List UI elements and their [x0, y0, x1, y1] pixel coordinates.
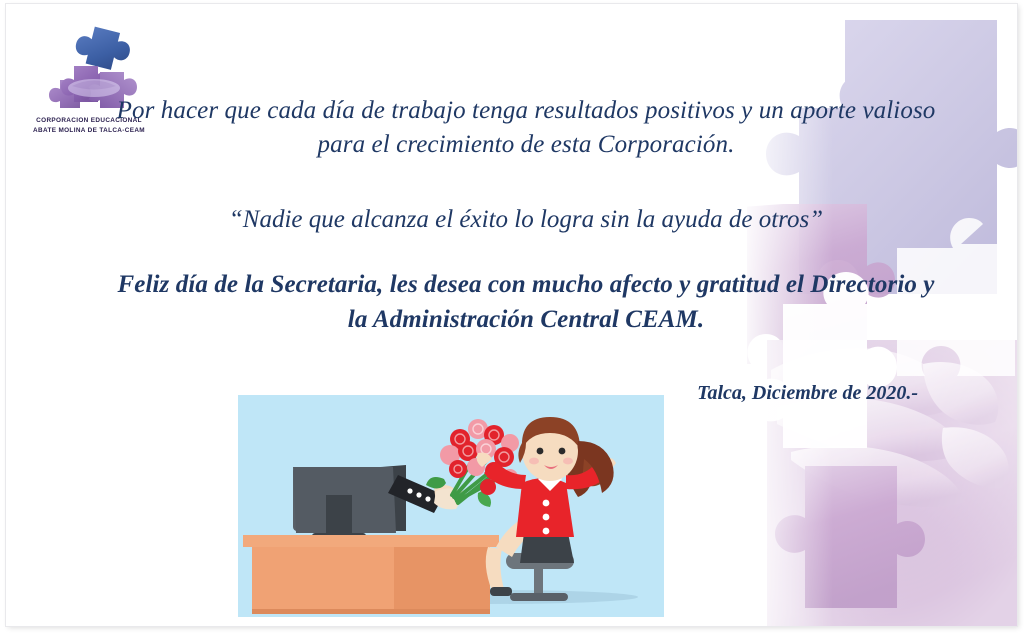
puzzle-piece-bottom — [775, 466, 925, 608]
message-wish: Feliz día de la Secretaria, les desea co… — [116, 267, 936, 338]
card-frame: CORPORACION EDUCACIONAL ABATE MOLINA DE … — [6, 4, 1017, 626]
desk — [243, 535, 499, 614]
monitor-icon — [293, 465, 406, 540]
message-quote: “Nadie que alcanza el éxito lo logra sin… — [116, 203, 936, 237]
message-block: Por hacer que cada día de trabajo tenga … — [116, 94, 936, 405]
greeting-card: CORPORACION EDUCACIONAL ABATE MOLINA DE … — [0, 0, 1024, 635]
message-paragraph: Por hacer que cada día de trabajo tenga … — [116, 94, 936, 161]
secretary-illustration — [238, 395, 664, 617]
